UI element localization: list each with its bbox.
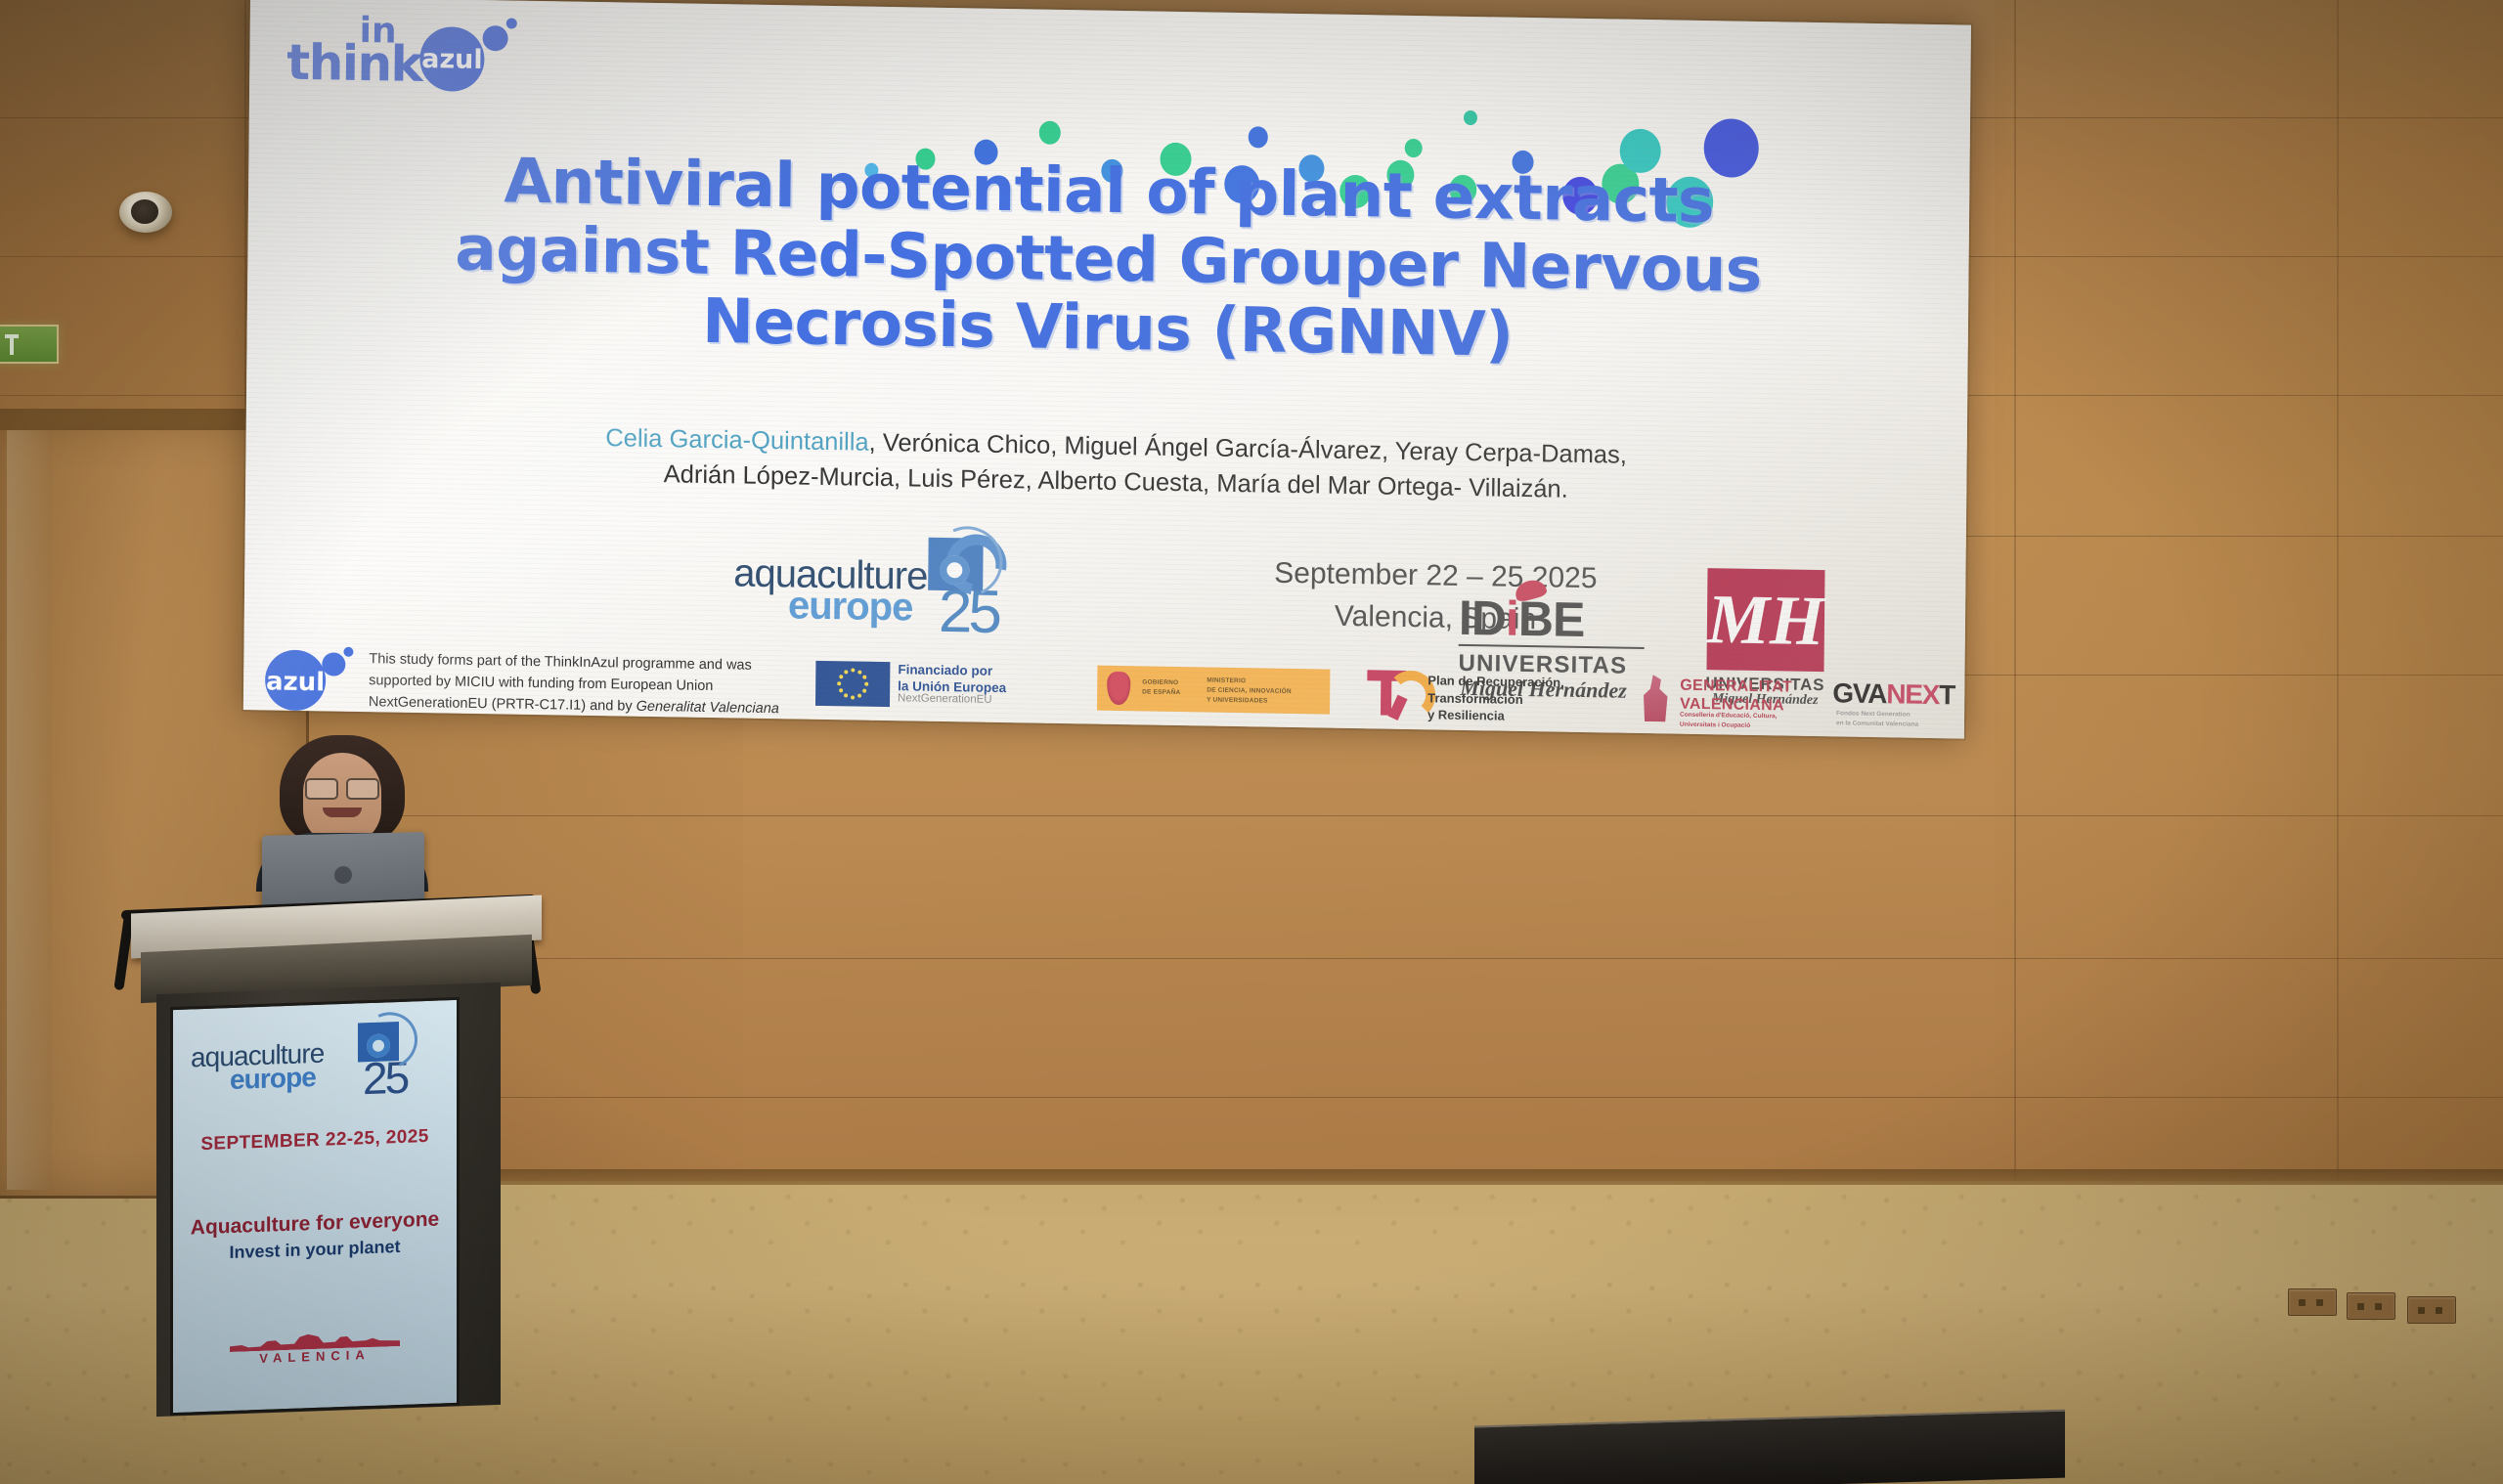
lectern-logo-mark-icon — [355, 1013, 416, 1069]
lectern-sign-tagline-2: Invest in your planet — [173, 1235, 457, 1265]
lectern-sign: aquaculture europe 25 SEPTEMBER 22-25, 2… — [170, 997, 460, 1416]
emergency-exit-sign — [0, 325, 59, 364]
prtr-text: Plan de Recuperación, Transformación y R… — [1427, 672, 1564, 725]
lectern-logo-line2: europe — [230, 1062, 316, 1096]
wall-outlet[interactable] — [2288, 1288, 2337, 1316]
presenter-smile — [323, 807, 362, 817]
lectern-sign-logo: aquaculture europe 25 — [191, 1018, 441, 1099]
wall-outlet[interactable] — [2347, 1292, 2395, 1320]
presenter-glasses — [305, 778, 379, 796]
ceiling-speaker — [119, 192, 172, 233]
presentation-slide: think in azul Antiviral potential of pla… — [243, 0, 1971, 739]
conference-room-photo: think in azul Antiviral potential of pla… — [0, 0, 2503, 1484]
decor-dot — [1464, 110, 1477, 125]
projection-screen: think in azul Antiviral potential of pla… — [243, 0, 1971, 739]
eu-nextgen: NextGenerationEU — [898, 692, 992, 706]
wall-outlet[interactable] — [2407, 1296, 2456, 1324]
lectern-sign-dates: SEPTEMBER 22-25, 2025 — [173, 1125, 457, 1157]
lectern: aquaculture europe 25 SEPTEMBER 22-25, 2… — [135, 904, 546, 1484]
